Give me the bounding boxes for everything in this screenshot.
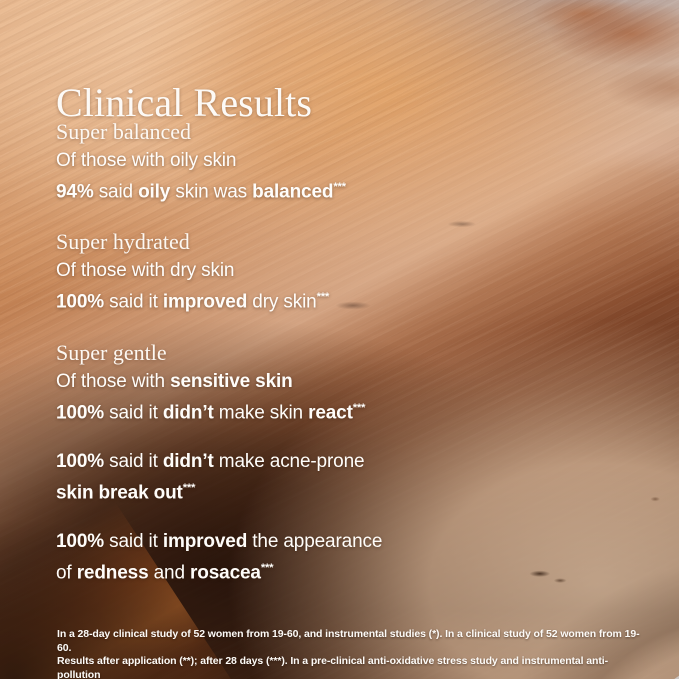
plain-text: make skin <box>214 402 308 423</box>
plain-text: said it <box>104 292 163 313</box>
claim-block: Super hydratedOf those with dry skin100%… <box>56 228 486 315</box>
emphasis-text: 100% <box>56 531 104 552</box>
claim-3-line-2: 100% said it didn’t make skin react*** <box>56 395 486 426</box>
plain-text: Of those with <box>56 371 170 392</box>
plain-text: and <box>149 563 191 584</box>
plain-text: Of those with dry skin <box>56 260 234 281</box>
emphasis-text: skin break out <box>56 482 183 503</box>
emphasis-text: 100% <box>56 402 104 423</box>
claims-list: Super balancedOf those with oily skin94%… <box>56 118 486 587</box>
plain-text: Of those with oily skin <box>56 150 236 171</box>
emphasis-text: sensitive skin <box>170 371 293 392</box>
claim-block: Super gentleOf those with sensitive skin… <box>56 339 486 426</box>
emphasis-text: redness <box>77 563 149 584</box>
footnote-disclaimer: In a 28-day clinical study of 52 women f… <box>57 628 641 679</box>
plain-text: the appearance <box>247 531 382 552</box>
claim-5-line-2: of redness and rosacea*** <box>56 555 486 586</box>
emphasis-text: improved <box>163 292 247 313</box>
footnote-marker: *** <box>333 181 345 193</box>
emphasis-text: balanced <box>252 181 333 202</box>
claim-4-line-1: 100% said it didn’t make acne-prone <box>56 449 486 475</box>
footnote-marker: *** <box>317 291 329 303</box>
plain-text: said it <box>104 531 163 552</box>
footnote-line-2: Results after application (**); after 28… <box>57 655 641 679</box>
claim-2-line-1: Of those with dry skin <box>56 258 486 284</box>
claim-1-line-2: 94% said oily skin was balanced*** <box>56 174 486 205</box>
claim-2-line-2: 100% said it improved dry skin*** <box>56 284 486 315</box>
claim-block: 100% said it improved the appearanceof r… <box>56 529 486 586</box>
emphasis-text: 100% <box>56 451 104 472</box>
emphasis-text: 94% <box>56 181 94 202</box>
claim-heading: Super gentle <box>56 339 486 366</box>
claim-heading: Super hydrated <box>56 228 486 255</box>
emphasis-text: improved <box>163 531 247 552</box>
emphasis-text: didn’t <box>163 451 214 472</box>
footnote-marker: *** <box>261 562 273 574</box>
claim-block: 100% said it didn’t make acne-proneskin … <box>56 449 486 506</box>
plain-text: skin was <box>170 181 252 202</box>
plain-text: of <box>56 563 77 584</box>
claim-4-line-2: skin break out*** <box>56 475 486 506</box>
claim-1-line-1: Of those with oily skin <box>56 148 486 174</box>
plain-text: said it <box>104 402 163 423</box>
plain-text: make acne-prone <box>214 451 365 472</box>
footnote-line-1: In a 28-day clinical study of 52 women f… <box>57 628 641 655</box>
plain-text: said <box>94 181 139 202</box>
emphasis-text: react <box>308 402 353 423</box>
emphasis-text: didn’t <box>163 402 214 423</box>
claim-3-line-1: Of those with sensitive skin <box>56 369 486 395</box>
claim-heading: Super balanced <box>56 118 486 145</box>
claim-block: Super balancedOf those with oily skin94%… <box>56 118 486 205</box>
clinical-results-panel: Clinical Results Super balancedOf those … <box>0 0 679 679</box>
emphasis-text: rosacea <box>190 563 261 584</box>
footnote-marker: *** <box>183 482 195 494</box>
plain-text: dry skin <box>247 292 316 313</box>
footnote-marker: *** <box>353 402 365 414</box>
emphasis-text: 100% <box>56 292 104 313</box>
plain-text: said it <box>104 451 163 472</box>
emphasis-text: oily <box>138 181 170 202</box>
claim-5-line-1: 100% said it improved the appearance <box>56 529 486 555</box>
